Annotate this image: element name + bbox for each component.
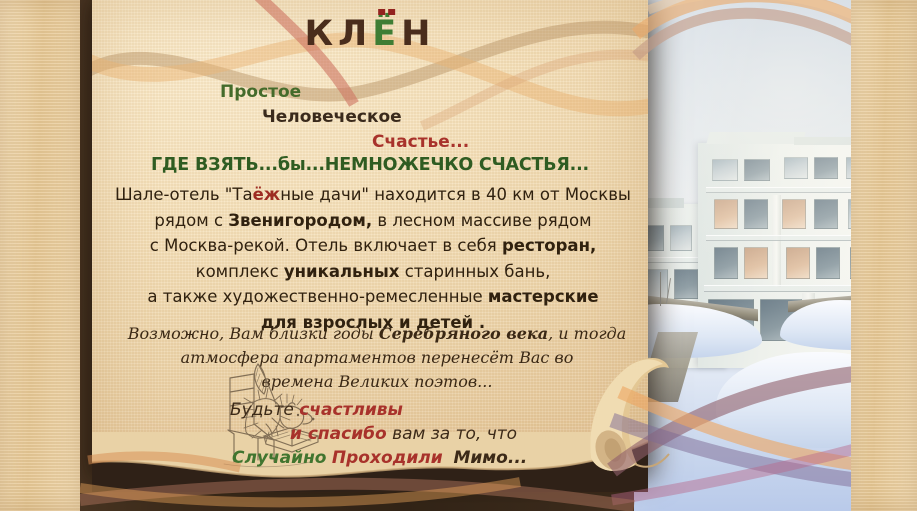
advertising-banner: КЛЁН Простое Человеческое Счастье... ГДЕ… (0, 0, 917, 511)
left-linen-strip (0, 0, 80, 511)
ribbons-svg (0, 0, 917, 511)
right-linen-strip (851, 0, 917, 511)
decorative-ribbons (0, 0, 917, 511)
